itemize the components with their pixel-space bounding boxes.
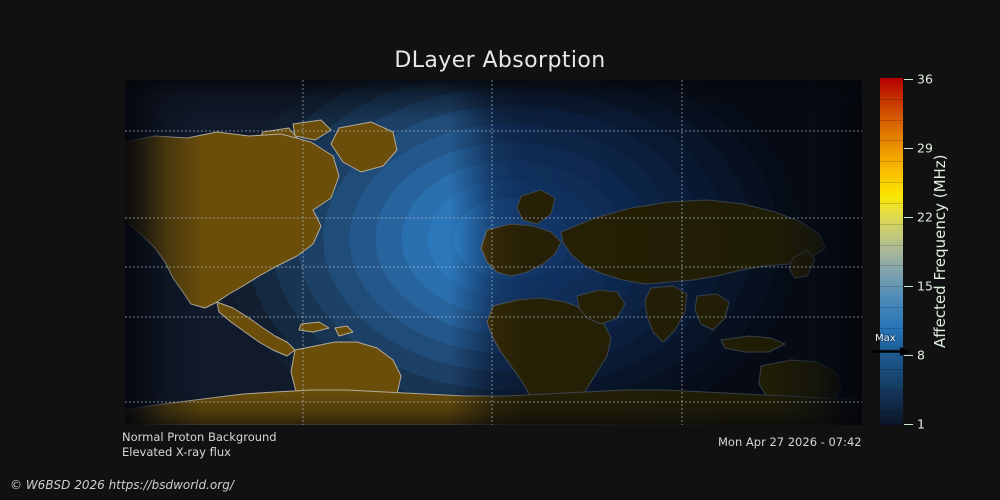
page-title: DLayer Absorption (0, 48, 1000, 73)
graticule (125, 80, 862, 425)
colorbar-steps (880, 78, 903, 425)
timestamp: Mon Apr 27 2026 - 07:42 (718, 435, 862, 449)
status-block: Normal Proton Background Elevated X-ray … (122, 430, 277, 460)
credit-line: © W6BSD 2026 https://bsdworld.org/ (10, 478, 234, 492)
status-line-xray: Elevated X-ray flux (122, 445, 277, 460)
colorbar-axis-label: Affected Frequency (MHz) (928, 78, 952, 425)
colorbar-tick-36 (904, 79, 913, 80)
max-arrow-icon (872, 347, 910, 356)
colorbar-label-1: 1 (917, 417, 925, 432)
status-line-proton: Normal Proton Background (122, 430, 277, 445)
colorbar-tick-1 (904, 424, 913, 425)
app-root: DLayer Absorption (0, 0, 1000, 500)
world-map[interactable] (125, 80, 862, 425)
colorbar-tick-22 (904, 217, 913, 218)
colorbar (880, 78, 903, 425)
colorbar-tick-15 (904, 286, 913, 287)
colorbar-tick-29 (904, 148, 913, 149)
max-marker: Max (872, 333, 912, 359)
max-marker-label: Max (875, 333, 896, 344)
colorbar-label-8: 8 (917, 348, 925, 363)
